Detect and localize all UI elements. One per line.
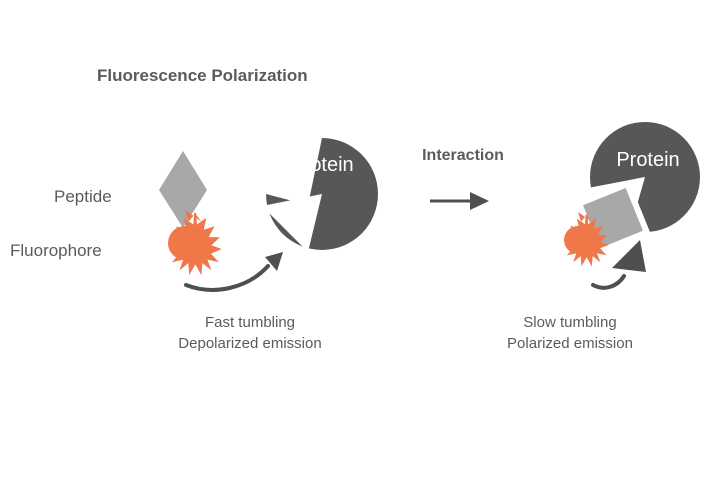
interaction-label: Interaction <box>422 147 504 164</box>
page-title: Fluorescence Polarization <box>97 66 308 85</box>
protein-label-right: Protein <box>616 149 679 171</box>
left-caption-line1: Fast tumbling <box>205 314 295 331</box>
fluorescence-polarization-diagram: Fluorescence Polarization Peptide Fluoro… <box>0 0 720 480</box>
peptide-label: Peptide <box>54 187 112 206</box>
left-caption-line2: Depolarized emission <box>178 335 321 352</box>
right-caption-line2: Polarized emission <box>507 335 633 352</box>
fluorophore-core-right <box>564 226 592 254</box>
right-caption-line1: Slow tumbling <box>523 314 616 331</box>
protein-label-left: Protein <box>290 154 353 176</box>
fluorophore-label: Fluorophore <box>10 241 102 260</box>
fluorophore-core <box>168 226 202 260</box>
